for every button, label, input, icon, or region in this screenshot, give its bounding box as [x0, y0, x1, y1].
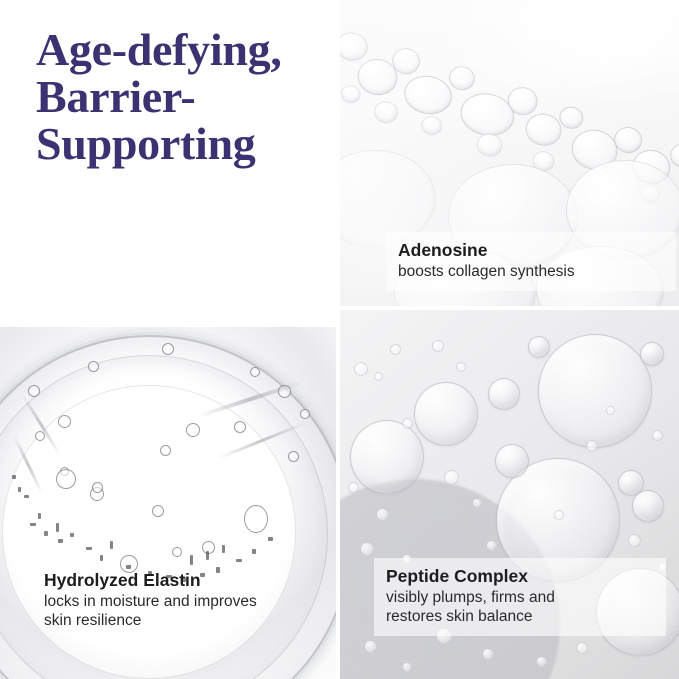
droplet-small-top — [528, 336, 550, 358]
peptide-title: Peptide Complex — [386, 566, 654, 587]
droplet-large-top-right — [538, 334, 652, 448]
droplet-medium-upper — [414, 382, 478, 446]
headline-line-2: Barrier- — [36, 73, 326, 120]
elastin-caption: Hydrolyzed Elastin locks in moisture and… — [44, 570, 324, 630]
elastin-body-line-2: skin resilience — [44, 611, 324, 630]
adenosine-panel: Adenosine boosts collagen synthesis — [340, 0, 679, 306]
peptide-panel: Peptide Complex visibly plumps, firms an… — [340, 310, 679, 679]
peptide-body-line-1: visibly plumps, firms and — [386, 588, 654, 607]
elastin-panel: Hydrolyzed Elastin locks in moisture and… — [0, 327, 336, 679]
peptide-caption: Peptide Complex visibly plumps, firms an… — [374, 558, 666, 636]
adenosine-caption: Adenosine boosts collagen synthesis — [386, 232, 676, 291]
headline-panel: Age-defying, Barrier- Supporting — [0, 0, 336, 304]
ingredient-benefits-panel: Age-defying, Barrier- Supporting — [0, 0, 679, 679]
headline-line-1: Age-defying, — [36, 26, 326, 73]
page-title: Age-defying, Barrier- Supporting — [36, 26, 326, 167]
adenosine-title: Adenosine — [398, 240, 664, 261]
headline-line-3: Supporting — [36, 120, 326, 167]
elastin-body: locks in moisture and improves skin resi… — [44, 592, 324, 630]
adenosine-body-line-1: boosts collagen synthesis — [398, 262, 664, 281]
droplet-small-mid — [495, 444, 529, 478]
peptide-body: visibly plumps, firms and restores skin … — [386, 588, 654, 626]
droplet-small-bottom-right — [632, 490, 664, 522]
droplet-small-right — [640, 342, 664, 366]
droplet-medium-left — [350, 420, 424, 494]
elastin-title: Hydrolyzed Elastin — [44, 570, 324, 591]
adenosine-body: boosts collagen synthesis — [398, 262, 664, 281]
droplet-small-upper — [488, 378, 520, 410]
elastin-body-line-1: locks in moisture and improves — [44, 592, 324, 611]
peptide-body-line-2: restores skin balance — [386, 607, 654, 626]
